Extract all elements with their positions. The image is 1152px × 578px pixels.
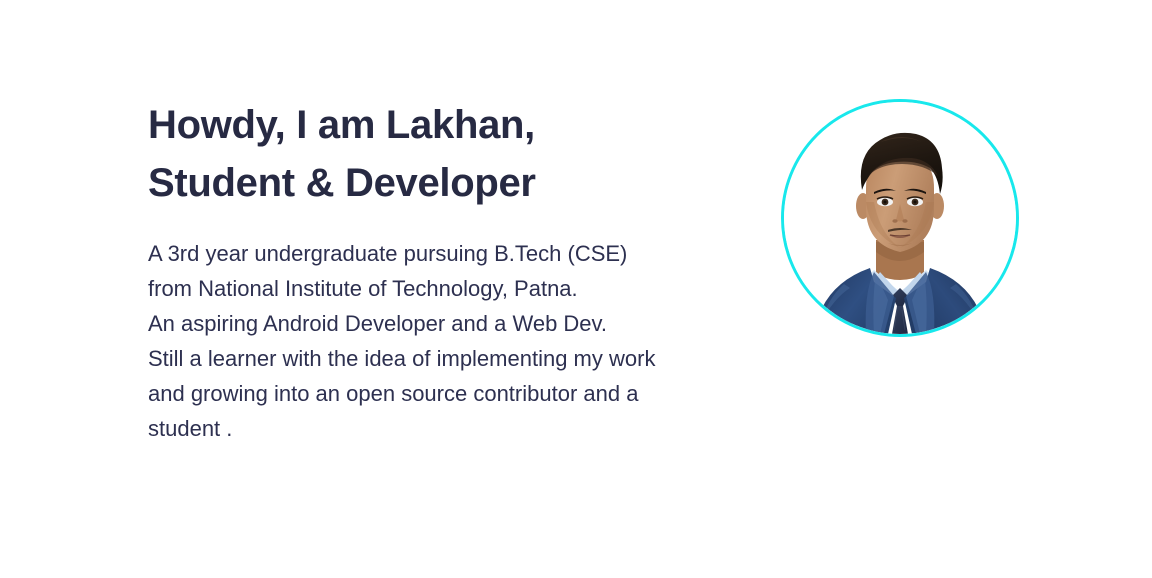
profile-photo-icon: [784, 102, 1016, 334]
hero-description: A 3rd year undergraduate pursuing B.Tech…: [148, 212, 668, 446]
page-title: Howdy, I am Lakhan, Student & Developer: [148, 96, 668, 212]
hero-section: Howdy, I am Lakhan, Student & Developer …: [0, 0, 1152, 578]
hero-text-block: Howdy, I am Lakhan, Student & Developer …: [148, 96, 668, 446]
avatar: [781, 99, 1019, 337]
